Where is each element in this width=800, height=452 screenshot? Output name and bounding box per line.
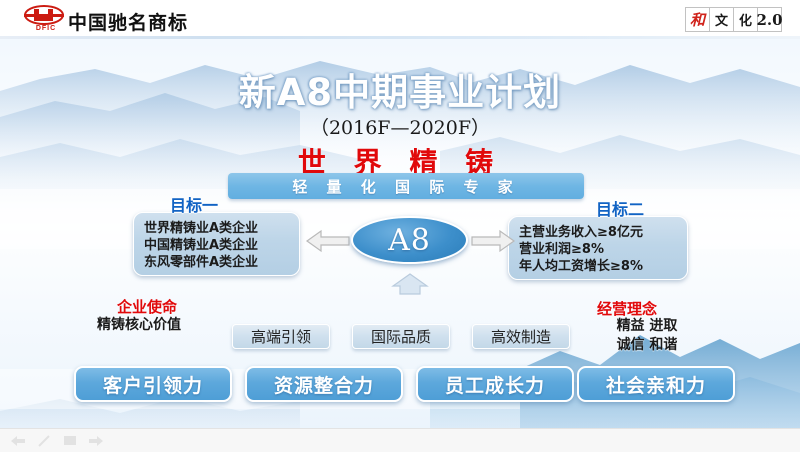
- prev-slide-icon[interactable]: [8, 433, 28, 449]
- goal-two-line-3: 年人均工资增长≥8%: [519, 258, 677, 275]
- mission-body: 精铸核心价值: [97, 316, 181, 335]
- slideshow-control-bar: [0, 428, 800, 452]
- left-arrow-icon: [305, 228, 351, 254]
- goal-one-line-2: 中国精铸业A类企业: [144, 237, 289, 254]
- philosophy-body: 精益 进取 诚信 和谐: [597, 317, 697, 355]
- next-slide-icon[interactable]: [86, 433, 106, 449]
- goal-two-box: 主营业务收入≥8亿元 营业利润≥8% 年人均工资增长≥8%: [508, 216, 688, 280]
- philosophy-title: 经营理念: [597, 298, 657, 319]
- culture-cell-hua: 化: [733, 7, 758, 32]
- presentation-slide: DFIC 中国驰名商标 和 文 化 2.0 新A8中期事业计划 （2016F—2…: [0, 0, 800, 452]
- culture-cell-he: 和: [685, 7, 710, 32]
- a8-center-node: A8: [351, 216, 468, 264]
- capability-employee-growth: 员工成长力: [416, 366, 574, 402]
- culture-logo: 和 文 化 2.0: [686, 7, 782, 32]
- logo-wordmark: DFIC: [26, 25, 66, 32]
- philosophy-line-1: 精益 进取: [597, 317, 697, 336]
- culture-cell-wen: 文: [709, 7, 734, 32]
- a8-label: A8: [388, 223, 431, 258]
- goal-two-line-1: 主营业务收入≥8亿元: [519, 224, 677, 241]
- dfic-logo-icon: DFIC: [22, 5, 66, 34]
- mission-title: 企业使命: [117, 296, 177, 317]
- capability-resource-integration: 资源整合力: [245, 366, 403, 402]
- logo-inner-shape: [34, 9, 53, 21]
- right-arrow-icon: [470, 228, 516, 254]
- philosophy-line-2: 诚信 和谐: [597, 336, 697, 355]
- capability-customer-leadership: 客户引领力: [74, 366, 232, 402]
- slide-title: 新A8中期事业计划: [0, 62, 800, 116]
- up-arrow-icon: [387, 272, 433, 296]
- goal-one-label: 目标一: [170, 192, 218, 216]
- value-pill-leadership: 高端引领: [232, 324, 330, 349]
- goal-one-line-3: 东风零部件A类企业: [144, 254, 289, 271]
- goal-one-box: 世界精铸业A类企业 中国精铸业A类企业 东风零部件A类企业: [133, 212, 300, 276]
- vision-banner: 轻 量 化 国 际 专 家: [228, 173, 584, 199]
- brand-name-label: 中国驰名商标: [68, 8, 188, 35]
- capability-social-affinity: 社会亲和力: [577, 366, 735, 402]
- value-pill-quality: 国际品质: [352, 324, 450, 349]
- culture-cell-version: 2.0: [757, 7, 782, 32]
- goal-one-line-1: 世界精铸业A类企业: [144, 220, 289, 237]
- slide-header: DFIC 中国驰名商标 和 文 化 2.0: [0, 0, 800, 39]
- pen-icon[interactable]: [34, 433, 54, 449]
- slide-menu-icon[interactable]: [60, 433, 80, 449]
- slide-subtitle: （2016F—2020F）: [0, 113, 800, 140]
- value-pill-manufacturing: 高效制造: [472, 324, 570, 349]
- goal-two-line-2: 营业利润≥8%: [519, 241, 677, 258]
- goal-two-label: 目标二: [596, 196, 644, 220]
